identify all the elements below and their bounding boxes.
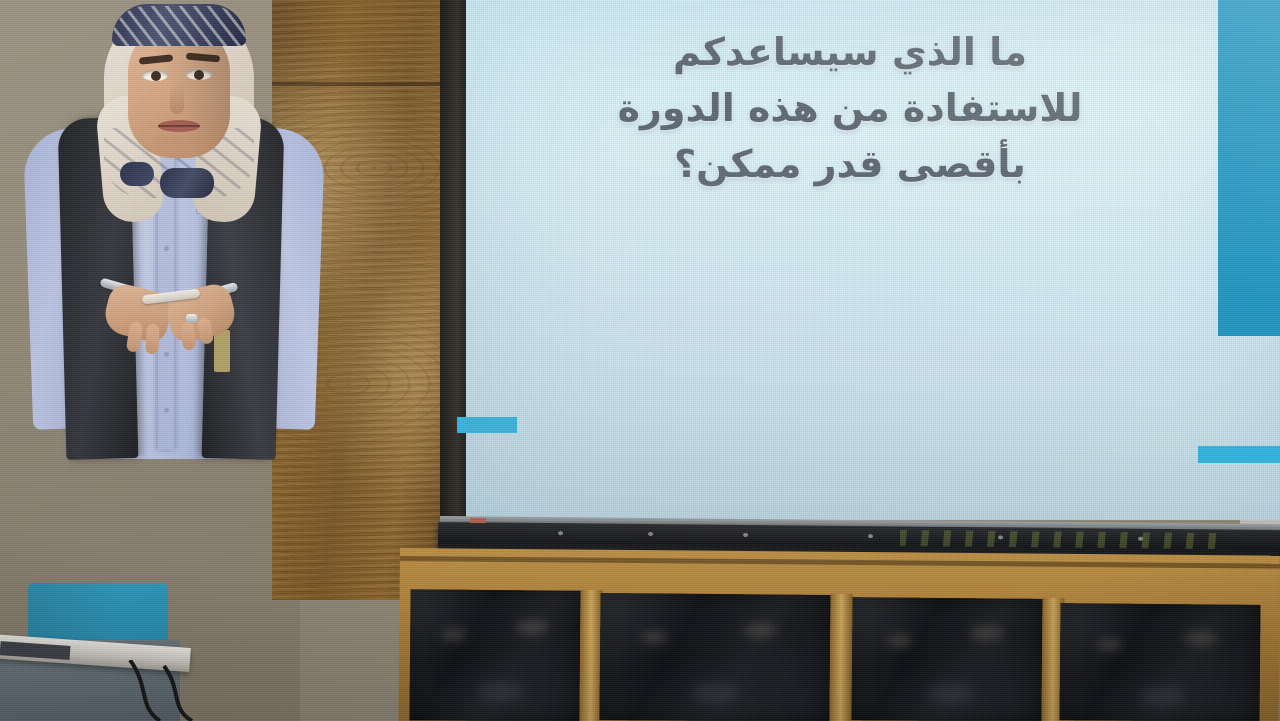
projection-light-falloff	[466, 0, 1280, 520]
ring	[186, 314, 197, 323]
glass-highlight	[1140, 686, 1186, 706]
cabinet-glass-panel	[409, 589, 580, 721]
hijab-knot	[160, 168, 214, 198]
cabinet-glass-panel	[1059, 603, 1260, 721]
glass-highlight	[1184, 630, 1218, 646]
hijab-knot-secondary	[120, 162, 154, 186]
rail-speckle	[558, 531, 563, 535]
glass-highlight	[886, 634, 912, 646]
shirt-button	[164, 352, 169, 357]
cabinet-glass-panel	[851, 597, 1042, 721]
hijab-headband-pattern	[112, 6, 246, 46]
rail-marker-red	[470, 518, 486, 523]
shirt-button	[164, 408, 169, 413]
presentation-photo: ما الذي سيساعدكم للاستفادة من هذه الدورة…	[0, 0, 1280, 721]
desk-cables	[120, 660, 260, 721]
glass-highlight	[970, 625, 1004, 641]
glass-highlight	[743, 622, 777, 638]
wood-panel-seam	[272, 82, 442, 86]
rail-speckle	[648, 532, 653, 536]
rail-speckle	[743, 533, 748, 537]
finger	[145, 324, 160, 355]
cabinet-glass-panel	[599, 593, 830, 721]
shirt-button	[164, 246, 169, 251]
lanyard-badge	[214, 330, 230, 372]
cabinet-divider	[829, 594, 852, 721]
glass-highlight	[478, 682, 524, 702]
glass-highlight	[692, 683, 738, 703]
finger	[181, 321, 196, 350]
rail-reflection-green	[900, 530, 1230, 549]
glass-highlight	[516, 619, 550, 635]
glass-highlight	[928, 684, 974, 704]
rail-speckle	[868, 534, 873, 538]
